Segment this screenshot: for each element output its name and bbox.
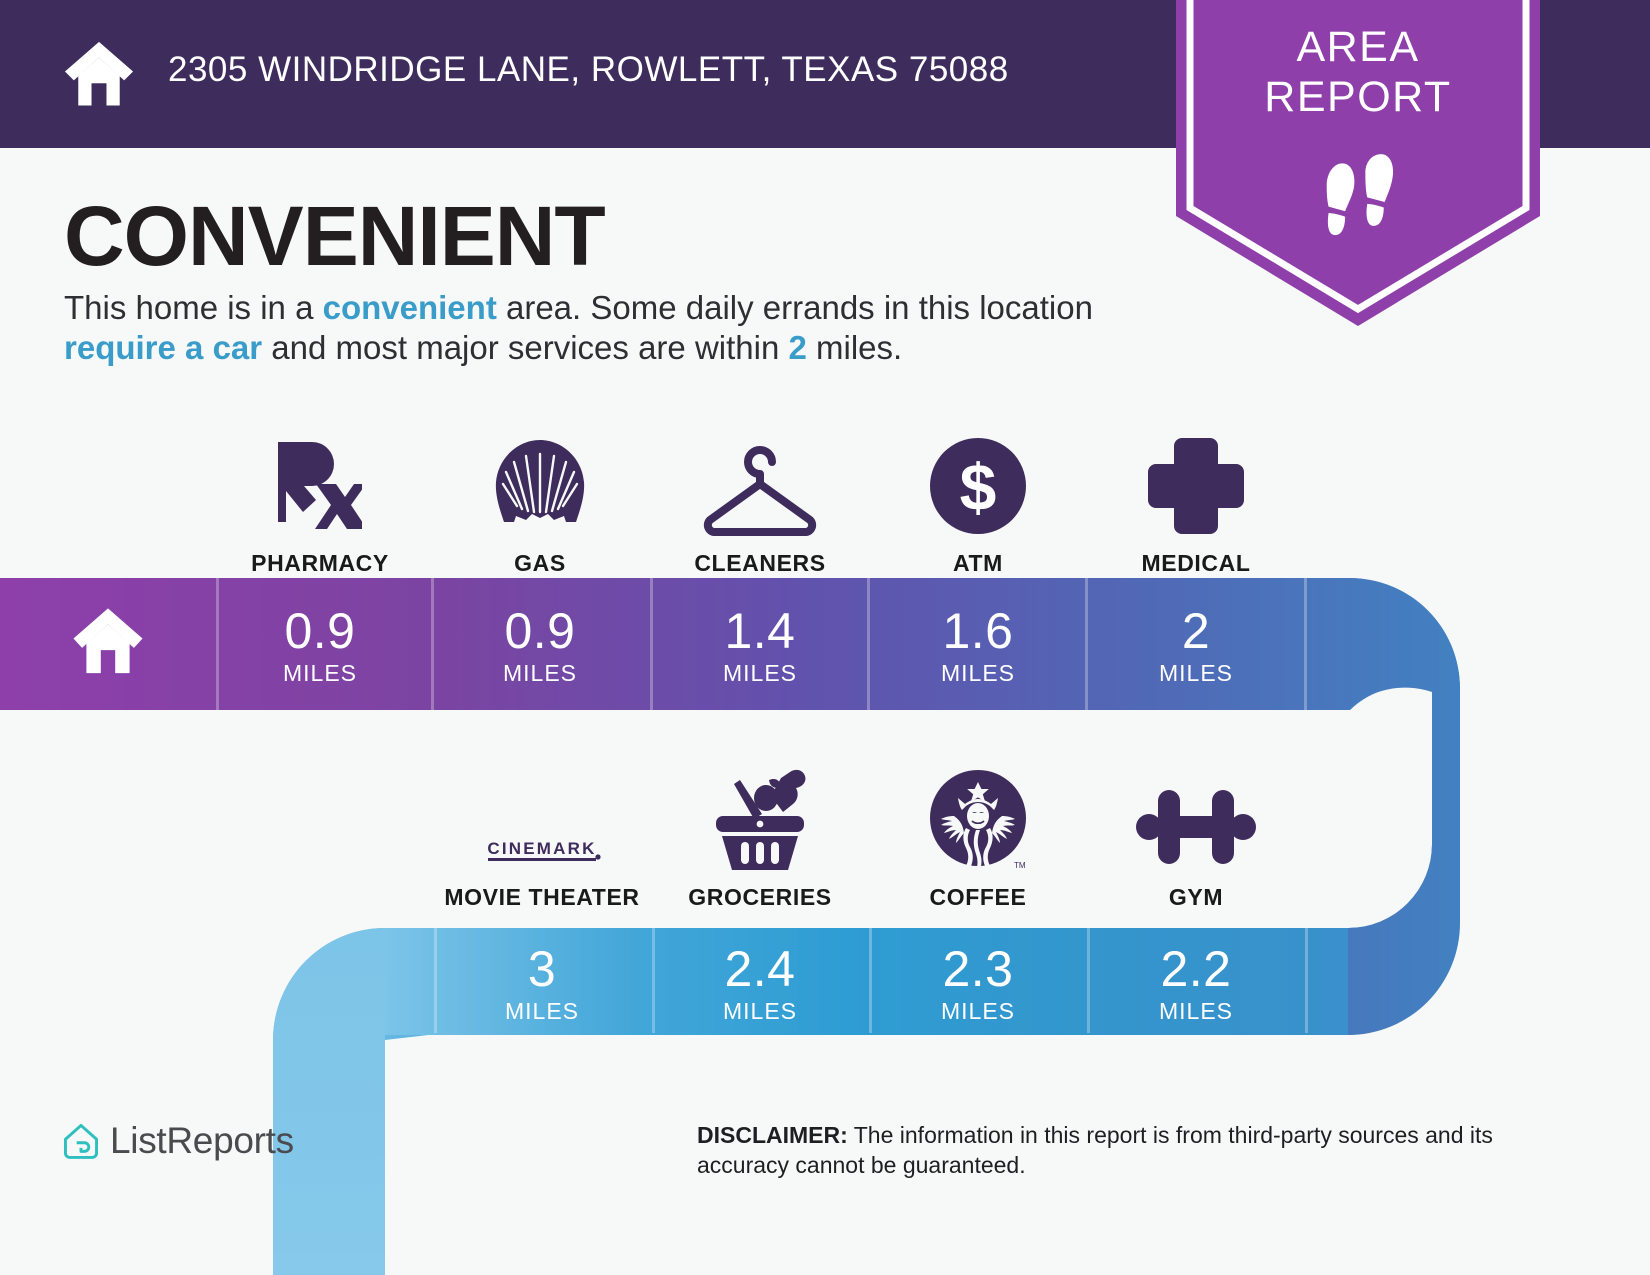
category-label: PHARMACY	[210, 550, 430, 577]
row1-icon-strip: PHARMACY GAS	[0, 428, 1650, 578]
category-label: COFFEE	[868, 884, 1088, 911]
area-report-badge: AREA REPORT	[1176, 0, 1540, 326]
category-label: GAS	[430, 550, 650, 577]
distance-unit: MILES	[868, 660, 1088, 687]
home-marker-icon	[72, 604, 144, 676]
category-cleaners: CLEANERS	[650, 428, 870, 577]
listreports-logo: ListReports	[62, 1120, 294, 1162]
category-movie-theater: CINEMARK MOVIE THEATER	[432, 762, 652, 911]
area-report-infographic: 2305 WINDRIDGE LANE, ROWLETT, TEXAS 7508…	[0, 0, 1650, 1275]
distance-value: 2.3	[868, 942, 1088, 996]
distance-value: 3	[432, 942, 652, 996]
distance-value: 0.9	[210, 604, 430, 658]
svg-text:TM: TM	[1014, 861, 1026, 870]
row2-icon-strip: CINEMARK MOVIE THEATER	[0, 762, 1650, 912]
listreports-wordmark: ListReports	[110, 1120, 294, 1162]
distance-movie-theater: 3 MILES	[432, 942, 652, 1025]
distance-unit: MILES	[650, 998, 870, 1025]
distance-unit: MILES	[1086, 660, 1306, 687]
distance-value: 2	[1086, 604, 1306, 658]
distance-unit: MILES	[1086, 998, 1306, 1025]
distance-value: 2.4	[650, 942, 870, 996]
cinemark-logo-icon: CINEMARK	[432, 762, 652, 870]
rx-icon	[210, 428, 430, 536]
medical-cross-icon	[1086, 428, 1306, 536]
category-atm: $ ATM	[868, 428, 1088, 577]
distance-coffee: 2.3 MILES	[868, 942, 1088, 1025]
category-label: GROCERIES	[650, 884, 870, 911]
distance-value: 1.4	[650, 604, 870, 658]
category-label: MEDICAL	[1086, 550, 1306, 577]
svg-text:CINEMARK: CINEMARK	[487, 839, 596, 858]
category-label: MOVIE THEATER	[432, 884, 652, 911]
category-groceries: GROCERIES	[650, 762, 870, 911]
svg-text:$: $	[960, 450, 997, 524]
category-coffee: TM COFFEE	[868, 762, 1088, 911]
distance-cleaners: 1.4 MILES	[650, 604, 870, 687]
distance-pharmacy: 0.9 MILES	[210, 604, 430, 687]
distance-value: 0.9	[430, 604, 650, 658]
distance-unit: MILES	[432, 998, 652, 1025]
category-medical: MEDICAL	[1086, 428, 1306, 577]
distance-unit: MILES	[650, 660, 870, 687]
distance-value: 2.2	[1086, 942, 1306, 996]
distance-gas: 0.9 MILES	[430, 604, 650, 687]
category-label: CLEANERS	[650, 550, 870, 577]
shell-logo-icon	[430, 428, 650, 536]
distance-value: 1.6	[868, 604, 1088, 658]
clothes-hanger-icon	[650, 428, 870, 536]
distance-unit: MILES	[210, 660, 430, 687]
category-pharmacy: PHARMACY	[210, 428, 430, 577]
distance-atm: 1.6 MILES	[868, 604, 1088, 687]
listreports-house-icon	[62, 1122, 100, 1160]
disclaimer: DISCLAIMER: The information in this repo…	[697, 1120, 1517, 1180]
grocery-basket-icon	[650, 762, 870, 870]
distance-unit: MILES	[430, 660, 650, 687]
disclaimer-label: DISCLAIMER:	[697, 1122, 848, 1148]
category-label: ATM	[868, 550, 1088, 577]
distance-gym: 2.2 MILES	[1086, 942, 1306, 1025]
category-label: GYM	[1086, 884, 1306, 911]
distance-groceries: 2.4 MILES	[650, 942, 870, 1025]
dollar-circle-icon: $	[868, 428, 1088, 536]
starbucks-logo-icon: TM	[868, 762, 1088, 870]
category-gas: GAS	[430, 428, 650, 577]
distance-medical: 2 MILES	[1086, 604, 1306, 687]
dumbbell-icon	[1086, 762, 1306, 870]
distance-unit: MILES	[868, 998, 1088, 1025]
category-gym: GYM	[1086, 762, 1306, 911]
footprints-icon	[1312, 154, 1404, 250]
